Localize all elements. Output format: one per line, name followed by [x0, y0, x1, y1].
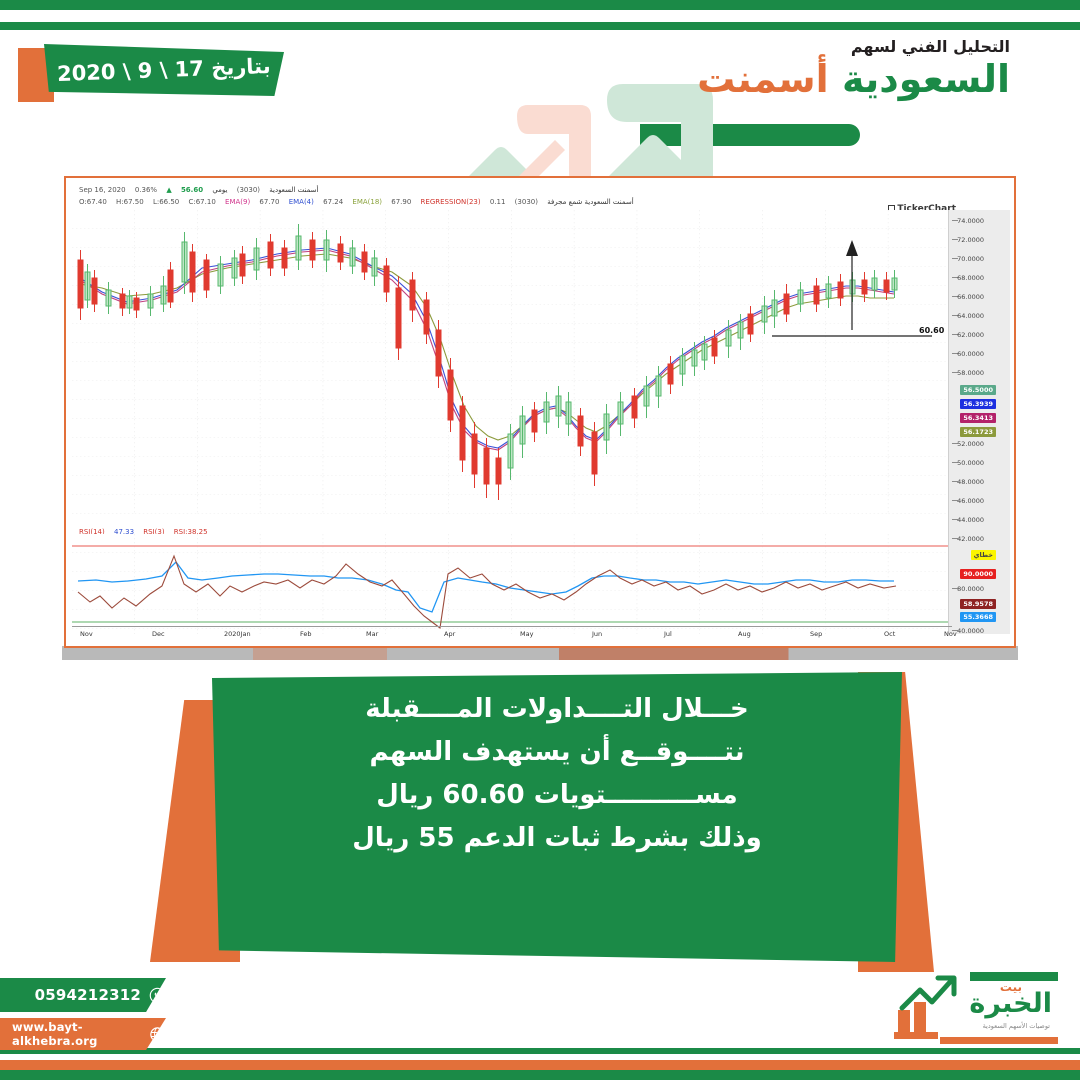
- legend-ema4-label: EMA(4): [289, 198, 314, 206]
- price-chip-scale-mode: خطاي: [971, 550, 996, 560]
- date-axis-label: 2020Jan: [224, 630, 251, 638]
- price-axis-label: 74.0000: [957, 217, 984, 225]
- date-axis-label: Aug: [738, 630, 751, 638]
- top-frame-green-bar-2: [0, 22, 1080, 30]
- date-axis-label: Nov: [80, 630, 93, 638]
- price-axis-label: 58.0000: [957, 369, 984, 377]
- rsi-chip-rsi3: 58.9578: [960, 599, 996, 609]
- date-axis-label: Oct: [884, 630, 895, 638]
- date-badge: بتاريخ 17 \ 9 \ 2020: [44, 44, 284, 96]
- legend-series-label: أسمنت السعودية شمع مجرفة: [547, 198, 634, 206]
- date-axis-label: Sep: [810, 630, 822, 638]
- legend-date: Sep 16, 2020: [79, 186, 126, 194]
- analysis-panel: خـــلال التــــداولات المــــقبلة نتــــ…: [212, 672, 902, 962]
- date-axis-label: Mar: [366, 630, 378, 638]
- bottom-frame-orange-bar: [0, 1060, 1080, 1070]
- price-axis-label: 66.0000: [957, 293, 984, 301]
- date-badge-label: بتاريخ 17 \ 9 \ 2020: [57, 54, 271, 86]
- legend-regression-value: 0.11: [490, 198, 506, 206]
- date-axis-label: Dec: [152, 630, 165, 638]
- contact-phone-number: 0594212312: [35, 986, 141, 1004]
- right-axis-strip: 74.0000 72.0000 70.0000 68.0000 66.0000 …: [948, 210, 1010, 634]
- rsi-chart-pane: [72, 534, 952, 634]
- rsi-chip-overbought: 90.0000: [960, 569, 996, 579]
- price-chip-ema18: 56.1723: [960, 427, 996, 437]
- rsi-axis-label: 40.0000: [957, 627, 984, 635]
- date-axis-label: Jul: [664, 630, 672, 638]
- analysis-line-3: مســــــــــتويات 60.60 ريال: [256, 782, 858, 808]
- price-axis-label: 70.0000: [957, 255, 984, 263]
- price-axis-label: 44.0000: [957, 516, 984, 524]
- page-title-word-cement: أسمنت: [697, 57, 829, 101]
- legend-period: يومي: [212, 186, 227, 194]
- legend-ohlc-low: L:66.50: [153, 198, 179, 206]
- legend-regression-label: REGRESSION(23): [421, 198, 481, 206]
- price-axis-label: 64.0000: [957, 312, 984, 320]
- legend-ema9-value: 67.70: [259, 198, 279, 206]
- legend-ema18-label: EMA(18): [352, 198, 382, 206]
- growth-arrow-decoration: [455, 70, 720, 190]
- legend-change-pct: 0.36%: [135, 186, 157, 194]
- legend-last-price: 56.60: [181, 186, 203, 194]
- logo-tagline: توصيات الأسهم السعودية: [983, 1022, 1050, 1030]
- legend-ema18-value: 67.90: [391, 198, 411, 206]
- price-axis-label: 60.0000: [957, 350, 984, 358]
- date-axis-label: Feb: [300, 630, 312, 638]
- price-chip-ema4: 56.3413: [960, 413, 996, 423]
- legend-ema4-value: 67.24: [323, 198, 343, 206]
- top-frame-white-gap: [0, 10, 1080, 22]
- date-axis-label: Nov: [944, 630, 957, 638]
- header-title-block: التحليل الفني لسهم السعودية أسمنت: [697, 38, 1010, 101]
- price-axis-label: 72.0000: [957, 236, 984, 244]
- price-axis-label: 62.0000: [957, 331, 984, 339]
- price-axis-label: 50.0000: [957, 459, 984, 467]
- logo-growth-arrow-icon: [892, 974, 970, 1040]
- price-axis-label: 48.0000: [957, 478, 984, 486]
- legend-ema9-label: EMA(9): [225, 198, 250, 206]
- legend-symbol-code: (3030): [237, 186, 260, 194]
- analysis-line-1: خـــلال التــــداولات المــــقبلة: [256, 696, 858, 722]
- price-axis-label: 68.0000: [957, 274, 984, 282]
- price-axis-label: 52.0000: [957, 440, 984, 448]
- globe-icon: [149, 1026, 166, 1043]
- rsi-chip-rsi14: 55.3668: [960, 612, 996, 622]
- contact-website-badge[interactable]: www.bayt-alkhebra.org: [0, 1018, 166, 1050]
- chart-legend-indicators: أسمنت السعودية شمع مجرفة (3030) O:67.40 …: [72, 198, 634, 206]
- legend-symbol-name: أسمنت السعودية: [269, 186, 318, 194]
- legend-ohlc-open: O:67.40: [79, 198, 107, 206]
- logo-primary-word: الخبرة: [969, 988, 1052, 1019]
- price-chip-close: 56.5000: [960, 385, 996, 395]
- whatsapp-icon: [149, 987, 166, 1004]
- date-axis-label: Jun: [592, 630, 602, 638]
- contact-phone-badge[interactable]: 0594212312: [0, 978, 166, 1012]
- page-subtitle: التحليل الفني لسهم: [697, 38, 1010, 56]
- rsi-axis-label: 20.0000: [957, 646, 984, 648]
- top-frame-green-bar: [0, 0, 1080, 10]
- page-title-word-saudi: السعودية: [842, 57, 1010, 101]
- price-axis-label: 46.0000: [957, 497, 984, 505]
- logo-orange-bar: [940, 1037, 1058, 1044]
- legend-series-code: (3030): [515, 198, 538, 206]
- chart-card: أسمنت السعودية (3030) يومي 56.60 ▲ 0.36%…: [64, 176, 1016, 648]
- poster-root: التحليل الفني لسهم السعودية أسمنت بتاريخ…: [0, 0, 1080, 1080]
- page-title: السعودية أسمنت: [697, 58, 1010, 102]
- price-chart-pane: [72, 210, 952, 514]
- legend-up-arrow-icon: ▲: [166, 186, 171, 194]
- date-axis-label: May: [520, 630, 533, 638]
- brand-logo: بيت الخبرة توصيات الأسهم السعودية: [886, 966, 1058, 1052]
- legend-ohlc-close: C:67.10: [188, 198, 215, 206]
- date-axis: Nov Dec 2020Jan Feb Mar Apr May Jun Jul …: [72, 626, 952, 642]
- date-axis-label: Apr: [444, 630, 455, 638]
- chart-legend-primary: أسمنت السعودية (3030) يومي 56.60 ▲ 0.36%…: [72, 186, 318, 194]
- bottom-frame-green-bar: [0, 1070, 1080, 1080]
- price-axis-label: 42.0000: [957, 535, 984, 543]
- rsi-axis-label: 80.0000: [957, 585, 984, 593]
- analysis-line-4: وذلك بشرط ثبات الدعم 55 ريال: [256, 825, 858, 851]
- target-price-annotation: 60.60: [919, 326, 944, 335]
- legend-ohlc-high: H:67.50: [116, 198, 144, 206]
- contact-website-url: www.bayt-alkhebra.org: [12, 1020, 141, 1048]
- analysis-line-2: نتــــوقــع أن يستهدف السهم: [256, 739, 858, 765]
- price-chip-ema9: 56.3939: [960, 399, 996, 409]
- chart-card-shadow: [62, 646, 1018, 660]
